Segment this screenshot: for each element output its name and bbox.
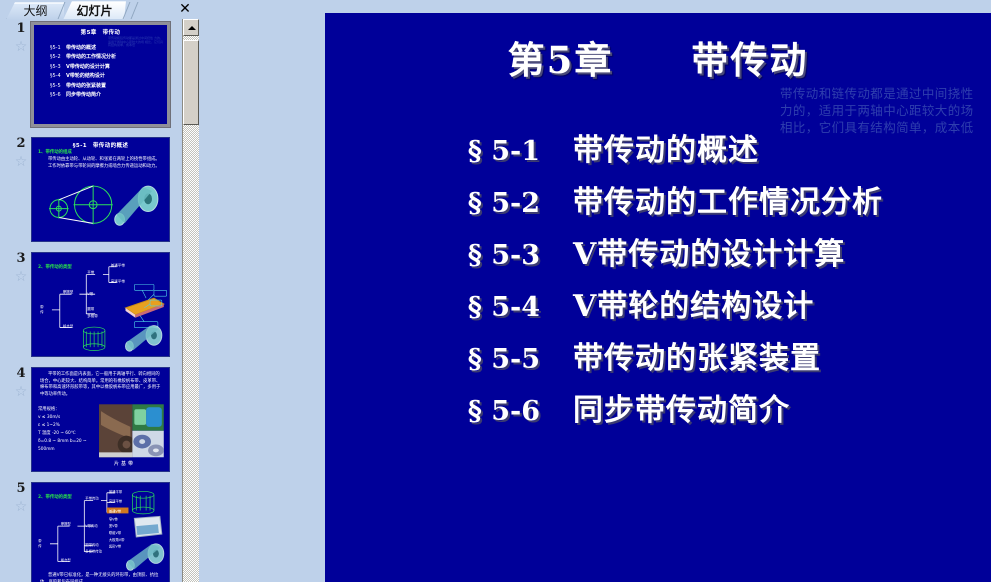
- slide-thumbnail-2[interactable]: §5-1 带传动的概述 1、带传动的组成 带传动由主动轮、从动轮、和张紧在两轮上…: [31, 137, 170, 242]
- belt-type-tree-diagram: 带传 摩擦型啮合型 平带V带 圆带多楔带 普通平带高速平带: [32, 253, 169, 356]
- svg-text:圆带传动: 圆带传动: [85, 542, 99, 547]
- tab-outline-label: 大纲: [7, 3, 64, 20]
- list-item[interactable]: 5 ☆ 2、带传动的类型 带传 摩擦型啮合型 平带传动V带传动: [0, 479, 182, 582]
- svg-text:带: 带: [38, 538, 42, 543]
- slide-thumbnail-1[interactable]: 第5章 带传动 带传动和链传动都是通过中间挠性 力的，适用于两轴中心距较大的场 …: [31, 22, 170, 127]
- svg-text:平带: 平带: [87, 270, 95, 275]
- tab-slides[interactable]: 幻灯片: [63, 1, 126, 20]
- svg-text:高速平带: 高速平带: [111, 278, 126, 283]
- slide-contents-list[interactable]: § 5-1 带传动的概述 § 5-2 带传动的工作情况分析 § 5-3 V带传动…: [325, 125, 991, 437]
- slide-thumbnail-list[interactable]: 1 ☆ 第5章 带传动 带传动和链传动都是通过中间挠性 力的，适用于两轴中心距较…: [0, 19, 182, 582]
- toc-text: 同步带传动简介: [573, 385, 790, 429]
- svg-text:V带传动: V带传动: [85, 523, 98, 528]
- tab-slides-label: 幻灯片: [63, 2, 126, 20]
- svg-text:普通平带: 普通平带: [111, 263, 126, 268]
- list-item[interactable]: 4 ☆ 平带的工作面是内表面，它一般用于两轴平行、转向相同的场合，中心距较大、结…: [0, 364, 182, 479]
- list-item[interactable]: 1 ☆ 第5章 带传动 带传动和链传动都是通过中间挠性 力的，适用于两轴中心距较…: [0, 19, 182, 134]
- svg-text:摩擦型: 摩擦型: [61, 521, 72, 526]
- svg-text:平带传动: 平带传动: [85, 496, 99, 501]
- transition-star-icon[interactable]: ☆: [12, 269, 30, 285]
- thumbnail-scrollbar[interactable]: [182, 19, 200, 582]
- toc-row[interactable]: § 5-1 带传动的概述: [325, 125, 991, 177]
- svg-text:带: 带: [40, 304, 44, 309]
- toc-number: § 5-5: [325, 344, 540, 375]
- panel-right-edge: [199, 0, 203, 582]
- svg-text:普通平带: 普通平带: [109, 489, 123, 494]
- transition-star-icon[interactable]: ☆: [12, 39, 30, 55]
- svg-text:大楔角V带: 大楔角V带: [109, 537, 125, 542]
- ghost-line-2: 力的，适用于两轴中心距较大的场: [780, 102, 991, 119]
- slide-title[interactable]: 第5章 带传动: [325, 30, 991, 84]
- toc-number: § 5-6: [325, 396, 540, 427]
- panel-tabstrip: 大纲 幻灯片 ✕: [0, 0, 203, 19]
- toc-text: 带传动的工作情况分析: [573, 177, 883, 221]
- toc-number: § 5-2: [325, 188, 540, 219]
- slide-thumbnail-5[interactable]: 2、带传动的类型 带传 摩擦型啮合型 平带传动V带传动 圆带传动多楔带传动: [31, 482, 170, 582]
- transition-star-icon[interactable]: ☆: [12, 154, 30, 170]
- svg-text:窄V带: 窄V带: [109, 516, 119, 521]
- toc-number: § 5-4: [325, 292, 540, 323]
- svg-text:啮合型: 啮合型: [61, 557, 72, 562]
- belt-drive-diagram: [32, 138, 169, 241]
- slide-thumbnail-3[interactable]: 2、带传动的类型 带传 摩擦型啮合型 平带V带 圆带多楔带 普通平带高: [31, 252, 170, 357]
- transition-star-icon[interactable]: ☆: [12, 384, 30, 400]
- belt-type-tree-diagram-extended: 带传 摩擦型啮合型 平带传动V带传动 圆带传动多楔带传动 普通平带高速平带 窄V…: [32, 483, 169, 582]
- toc-row[interactable]: § 5-2 带传动的工作情况分析: [325, 177, 991, 229]
- toc-row[interactable]: § 5-5 带传动的张紧装置: [325, 333, 991, 385]
- slide-number: 3: [13, 251, 29, 266]
- flat-belt-photos: [32, 368, 169, 471]
- toc-row[interactable]: § 5-6 同步带传动简介: [325, 385, 991, 437]
- powerpoint-window: 大纲 幻灯片 ✕ 1 ☆ 第5章 带传动 带传动和链传动都是通过中间挠性 力的，…: [0, 0, 991, 582]
- tab-separator-3: [131, 2, 139, 19]
- thumb-title: 第5章 带传动: [34, 28, 167, 36]
- svg-text:多楔带传动: 多楔带传动: [85, 549, 102, 554]
- svg-text:齿形V带: 齿形V带: [109, 544, 122, 549]
- slide-thumbnail-4[interactable]: 平带的工作面是内表面，它一般用于两轴平行、转向相同的场合，中心距较大、结构简单。…: [31, 367, 170, 472]
- toc-row[interactable]: § 5-3 V带传动的设计计算: [325, 229, 991, 281]
- svg-text:高速平带: 高速平带: [109, 499, 123, 504]
- toc-text: V带轮的结构设计: [573, 281, 814, 325]
- svg-text:V带: V带: [87, 291, 93, 296]
- transition-star-icon[interactable]: ☆: [12, 499, 30, 515]
- thumb-ghost-text: 带传动和链传动都是通过中间挠性 力的，适用于两轴中心距较大的场 相比，它们具有结…: [108, 37, 164, 48]
- toc-number: § 5-1: [325, 136, 540, 167]
- slide-number: 1: [13, 21, 29, 36]
- scrollbar-thumb[interactable]: [183, 40, 199, 125]
- toc-text: V带传动的设计计算: [573, 229, 845, 273]
- thumb-toc: §5-1带传动的概述 §5-2带传动的工作情况分析 §5-3V带传动的设计计算 …: [50, 44, 116, 100]
- toc-number: § 5-3: [325, 240, 540, 271]
- toc-row[interactable]: § 5-4 V带轮的结构设计: [325, 281, 991, 333]
- toc-text: 带传动的概述: [573, 125, 759, 169]
- svg-text:圆带: 圆带: [87, 306, 95, 311]
- svg-text:摩擦型: 摩擦型: [63, 289, 74, 294]
- slides-panel: 大纲 幻灯片 ✕ 1 ☆ 第5章 带传动 带传动和链传动都是通过中间挠性 力的，…: [0, 0, 203, 582]
- slide-number: 4: [13, 366, 29, 381]
- svg-text:宽V带: 宽V带: [109, 523, 119, 528]
- svg-text:多楔带: 多楔带: [87, 313, 98, 318]
- list-item[interactable]: 3 ☆ 2、带传动的类型 带传 摩擦型啮合型 平带V带: [0, 249, 182, 364]
- slide-editing-area[interactable]: 第5章 带传动 带传动和链传动都是通过中间挠性 力的，适用于两轴中心距较大的场 …: [325, 13, 991, 582]
- tab-outline[interactable]: 大纲: [6, 2, 64, 20]
- scroll-up-button[interactable]: [183, 19, 199, 36]
- thumb-caption: 片基带: [114, 460, 135, 467]
- slide-number: 5: [13, 481, 29, 496]
- ghost-line-1: 带传动和链传动都是通过中间挠性: [780, 85, 991, 102]
- svg-text:传: 传: [40, 309, 44, 314]
- svg-text:啮合型: 啮合型: [63, 324, 74, 329]
- toc-text: 带传动的张紧装置: [573, 333, 821, 377]
- highlight-label: 普通V带: [109, 508, 122, 513]
- slide-number: 2: [13, 136, 29, 151]
- thumb-body: 普通V带已标准化，是一种无接头的环形带，由顶胶、抗拉体、底胶和包布层组成。: [40, 573, 162, 582]
- svg-text:联组V带: 联组V带: [109, 530, 122, 535]
- close-icon[interactable]: ✕: [177, 1, 193, 17]
- list-item[interactable]: 2 ☆ §5-1 带传动的概述 1、带传动的组成 带传动由主动轮、从动轮、和张紧…: [0, 134, 182, 249]
- svg-text:传: 传: [38, 543, 42, 548]
